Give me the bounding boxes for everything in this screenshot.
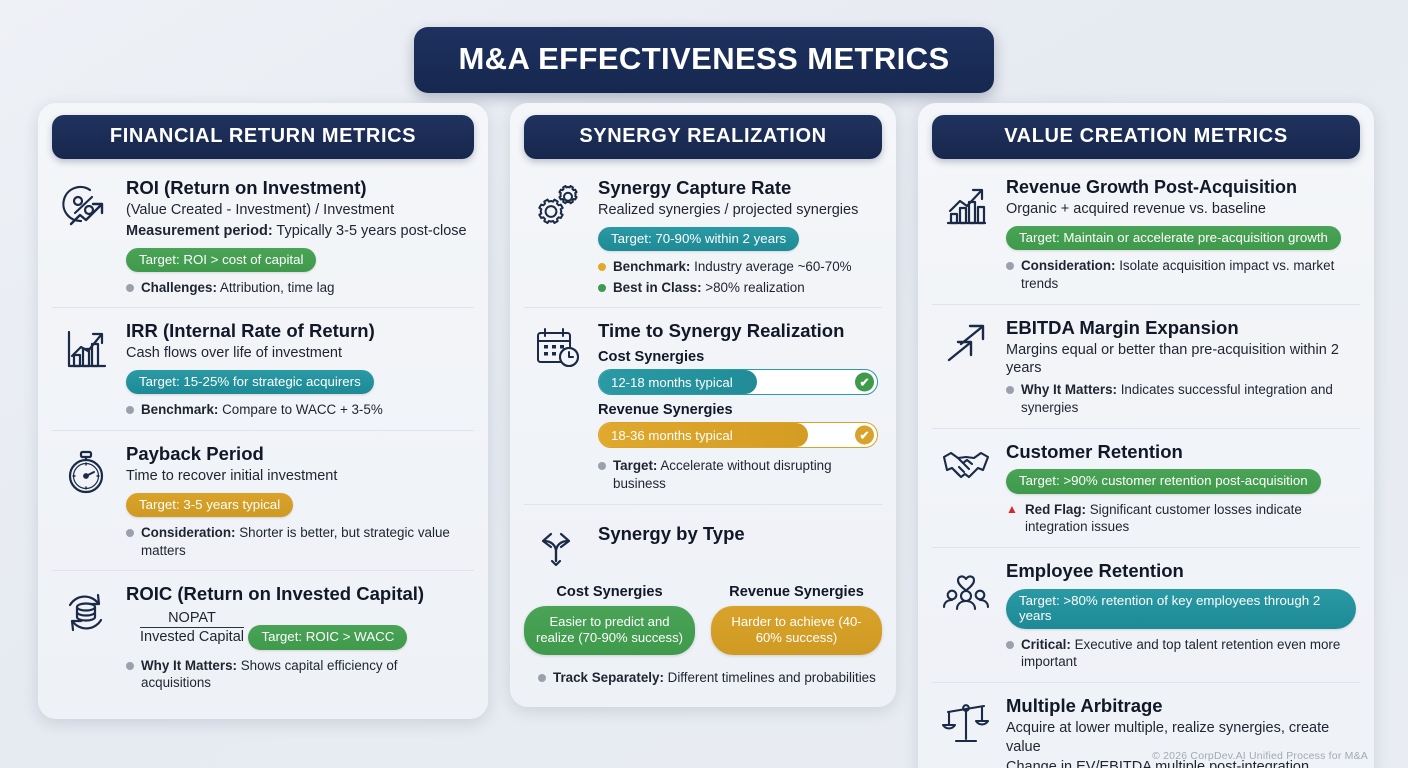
percent-growth-icon <box>58 177 114 296</box>
metric-body: Synergy Capture Rate Realized synergies … <box>598 177 878 296</box>
people-heart-icon <box>938 560 994 671</box>
target-badge: Target: >90% customer retention post-acq… <box>1006 469 1321 493</box>
note-text: Red Flag: Significant customer losses in… <box>1025 501 1356 536</box>
bullet-dot-icon <box>538 674 546 682</box>
metric-sub: Time to recover initial investment <box>126 467 470 486</box>
metric-sub: Realized synergies / projected synergies <box>598 201 878 220</box>
metric-note: Why It Matters: Indicates successful int… <box>1006 381 1356 416</box>
column-value-creation-metrics: VALUE CREATION METRICS Revenue Grow <box>918 103 1374 768</box>
metric-item-customer-retention: Customer Retention Target: >90% customer… <box>932 428 1360 547</box>
roic-formula: NOPAT Invested Capital <box>140 610 244 645</box>
synergy-cell-cost: Cost Synergies Easier to predict and rea… <box>524 584 695 656</box>
metric-note: Why It Matters: Shows capital efficiency… <box>126 657 470 692</box>
metric-note: Consideration: Isolate acquisition impac… <box>1006 257 1356 292</box>
handshake-icon <box>938 441 994 536</box>
metric-body: Customer Retention Target: >90% customer… <box>1006 441 1356 536</box>
metric-sub-2: Measurement period: Typically 3-5 years … <box>126 222 470 241</box>
column-financial-return-metrics: FINANCIAL RETURN METRICS ROI (Return on … <box>38 103 488 719</box>
metric-sub: Cash flows over life of investment <box>126 344 470 363</box>
copyright-footer: © 2026 CorpDev.AI Unified Process for M&… <box>1152 750 1368 762</box>
column-heading: SYNERGY REALIZATION <box>524 115 882 159</box>
cell-caption: Cost Synergies <box>524 584 695 600</box>
metric-sub: Organic + acquired revenue vs. baseline <box>1006 200 1356 219</box>
metric-note: Best in Class: >80% realization <box>598 279 878 297</box>
metric-note: Critical: Executive and top talent reten… <box>1006 636 1356 671</box>
metric-note: Consideration: Shorter is better, but st… <box>126 524 470 559</box>
metric-title: Customer Retention <box>1006 441 1356 463</box>
calendar-clock-icon <box>530 320 586 492</box>
metric-title: Revenue Growth Post-Acquisition <box>1006 177 1356 198</box>
metric-body: EBITDA Margin Expansion Margins equal or… <box>1006 317 1356 417</box>
target-badge: Target: ROIC > WACC <box>248 625 407 649</box>
note-text: Track Separately: Different timelines an… <box>553 669 876 687</box>
metric-body: Employee Retention Target: >80% retentio… <box>1006 560 1356 671</box>
note-text: Target: Accelerate without disrupting bu… <box>613 457 878 492</box>
metric-body: Payback Period Time to recover initial i… <box>126 443 470 559</box>
cell-pill: Harder to achieve (40-60% success) <box>711 606 882 656</box>
column-heading: FINANCIAL RETURN METRICS <box>52 115 474 159</box>
note-text: Why It Matters: Indicates successful int… <box>1021 381 1356 416</box>
title-container: M&A EFFECTIVENESS METRICS <box>0 0 1408 93</box>
metric-title: Synergy Capture Rate <box>598 177 878 199</box>
column-heading: VALUE CREATION METRICS <box>932 115 1360 159</box>
warning-triangle-icon: ▲ <box>1006 503 1018 515</box>
target-badge: Target: >80% retention of key employees … <box>1006 589 1356 629</box>
metric-title: Multiple Arbitrage <box>1006 695 1356 717</box>
formula-numerator: NOPAT <box>140 610 244 627</box>
coins-cycle-icon <box>58 583 114 691</box>
metric-item-revenue-growth: Revenue Growth Post-Acquisition Organic … <box>932 165 1360 304</box>
note-text: Best in Class: >80% realization <box>613 279 805 297</box>
cell-pill: Easier to predict and realize (70-90% su… <box>524 606 695 656</box>
bar-label-revenue-synergies: Revenue Synergies <box>598 402 878 418</box>
target-badge: Target: 70-90% within 2 years <box>598 227 799 251</box>
metric-note: Benchmark: Compare to WACC + 3-5% <box>126 401 470 419</box>
metric-sub: (Value Created - Investment) / Investmen… <box>126 201 470 220</box>
column-synergy-realization: SYNERGY REALIZATION Synergy Capture Rate… <box>510 103 896 707</box>
columns-container: FINANCIAL RETURN METRICS ROI (Return on … <box>0 93 1408 768</box>
metric-item-synergy-capture-rate: Synergy Capture Rate Realized synergies … <box>524 165 882 307</box>
note-text: Benchmark: Industry average ~60-70% <box>613 258 852 276</box>
synergy-type-comparison: Cost Synergies Easier to predict and rea… <box>524 584 882 656</box>
metric-body: Synergy by Type <box>598 517 878 567</box>
metric-item-ebitda-margin: EBITDA Margin Expansion Margins equal or… <box>932 304 1360 428</box>
page-title: M&A EFFECTIVENESS METRICS <box>414 27 993 93</box>
note-text: Challenges: Attribution, time lag <box>141 279 335 297</box>
bullet-dot-icon <box>598 263 606 271</box>
metric-sub-2-bold: Measurement period: <box>126 223 273 239</box>
metric-note: ▲Red Flag: Significant customer losses i… <box>1006 501 1356 536</box>
metric-item-irr: IRR (Internal Rate of Return) Cash flows… <box>52 307 474 430</box>
bullet-dot-icon <box>1006 641 1014 649</box>
check-icon: ✔ <box>855 373 874 392</box>
metric-title: ROI (Return on Investment) <box>126 177 470 199</box>
metric-sub: Margins equal or better than pre-acquisi… <box>1006 341 1356 379</box>
bullet-dot-icon <box>126 406 134 414</box>
metric-item-roic: ROIC (Return on Invested Capital) NOPAT … <box>52 570 474 702</box>
metric-note: Target: Accelerate without disrupting bu… <box>598 457 878 492</box>
bullet-dot-icon <box>1006 386 1014 394</box>
metric-item-time-to-synergy: Time to Synergy Realization Cost Synergi… <box>524 307 882 503</box>
metric-body: ROIC (Return on Invested Capital) NOPAT … <box>126 583 470 691</box>
metric-title: Employee Retention <box>1006 560 1356 582</box>
metric-title: Time to Synergy Realization <box>598 320 878 342</box>
note-text: Consideration: Isolate acquisition impac… <box>1021 257 1356 292</box>
target-badge: Target: ROI > cost of capital <box>126 248 316 272</box>
note-text: Why It Matters: Shows capital efficiency… <box>141 657 470 692</box>
metric-note: Track Separately: Different timelines an… <box>538 669 882 687</box>
metric-item-employee-retention: Employee Retention Target: >80% retentio… <box>932 547 1360 682</box>
bullet-dot-icon <box>126 284 134 292</box>
metric-item-roi: ROI (Return on Investment) (Value Create… <box>52 165 474 307</box>
metric-body: Revenue Growth Post-Acquisition Organic … <box>1006 177 1356 293</box>
progress-fill: 12-18 months typical <box>599 370 757 394</box>
double-arrow-up-icon <box>938 317 994 417</box>
bullet-dot-icon <box>1006 262 1014 270</box>
metric-title: Synergy by Type <box>598 523 878 545</box>
stopwatch-icon <box>58 443 114 559</box>
metric-body: Time to Synergy Realization Cost Synergi… <box>598 320 878 492</box>
metric-title: EBITDA Margin Expansion <box>1006 317 1356 339</box>
bullet-dot-icon <box>598 462 606 470</box>
progress-fill: 18-36 months typical <box>599 423 808 447</box>
cell-caption: Revenue Synergies <box>711 584 882 600</box>
metric-sub-2-rest: Typically 3-5 years post-close <box>273 223 467 239</box>
bar-chart-growth-icon <box>938 177 994 293</box>
metric-title: Payback Period <box>126 443 470 465</box>
bullet-dot-icon <box>126 662 134 670</box>
synergy-cell-revenue: Revenue Synergies Harder to achieve (40-… <box>711 584 882 656</box>
bar-label-cost-synergies: Cost Synergies <box>598 349 878 365</box>
metric-body: ROI (Return on Investment) (Value Create… <box>126 177 470 296</box>
scales-balance-icon <box>938 695 994 768</box>
bullet-dot-icon <box>598 284 606 292</box>
progress-bar-revenue-synergies: 18-36 months typical ✔ <box>598 422 878 448</box>
target-badge: Target: Maintain or accelerate pre-acqui… <box>1006 226 1341 250</box>
formula-denominator: Invested Capital <box>140 627 244 645</box>
metric-note: Challenges: Attribution, time lag <box>126 279 470 297</box>
target-badge: Target: 15-25% for strategic acquirers <box>126 370 374 394</box>
note-text: Critical: Executive and top talent reten… <box>1021 636 1356 671</box>
check-icon: ✔ <box>855 426 874 445</box>
metric-item-payback-period: Payback Period Time to recover initial i… <box>52 430 474 570</box>
metric-item-synergy-by-type: Synergy by Type <box>524 504 882 578</box>
gears-icon <box>530 177 586 296</box>
note-text: Benchmark: Compare to WACC + 3-5% <box>141 401 383 419</box>
metric-title: ROIC (Return on Invested Capital) <box>126 583 470 605</box>
metric-body: IRR (Internal Rate of Return) Cash flows… <box>126 320 470 419</box>
bar-chart-arrow-icon <box>58 320 114 419</box>
infographic-page: M&A EFFECTIVENESS METRICS FINANCIAL RETU… <box>0 0 1408 768</box>
note-text: Consideration: Shorter is better, but st… <box>141 524 470 559</box>
metric-title: IRR (Internal Rate of Return) <box>126 320 470 342</box>
bullet-dot-icon <box>126 529 134 537</box>
metric-note: Benchmark: Industry average ~60-70% <box>598 258 878 276</box>
fork-arrows-icon <box>530 517 586 567</box>
progress-bar-cost-synergies: 12-18 months typical ✔ <box>598 369 878 395</box>
target-badge: Target: 3-5 years typical <box>126 493 293 517</box>
